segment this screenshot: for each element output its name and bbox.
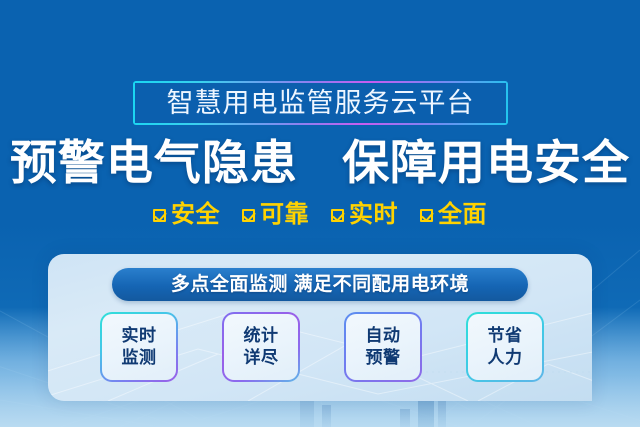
feature-checklist: 安全 可靠 实时 全面 — [0, 203, 640, 227]
building-silhouette — [438, 401, 446, 427]
feature-card-detailed-statistics[interactable]: 统计 详尽 — [222, 312, 300, 382]
feature-card-line1: 统计 — [244, 326, 279, 346]
checkbox-checked-icon — [420, 209, 433, 222]
feature-card-inner: 节省 人力 — [468, 314, 542, 380]
checkbox-checked-icon — [331, 209, 344, 222]
feature-panel: 多点全面监测 满足不同配用电环境 实时 监测 统计 详尽 自动 预警 — [48, 254, 592, 401]
feature-card-inner: 实时 监测 — [102, 314, 176, 380]
feature-card-inner: 统计 详尽 — [224, 314, 298, 380]
feature-card-list: 实时 监测 统计 详尽 自动 预警 节省 人力 — [100, 312, 544, 384]
feature-card-line2: 人力 — [488, 348, 523, 368]
checklist-item-safe: 安全 — [153, 203, 220, 227]
checklist-item-reliable: 可靠 — [242, 203, 309, 227]
panel-banner-text: 多点全面监测 满足不同配用电环境 — [171, 275, 469, 294]
feature-card-realtime-monitoring[interactable]: 实时 监测 — [100, 312, 178, 382]
headline: 预警电气隐患 保障用电安全 — [0, 138, 640, 187]
checklist-label: 全面 — [438, 203, 487, 227]
feature-card-line2: 监测 — [122, 348, 157, 368]
checklist-label: 安全 — [171, 203, 220, 227]
feature-card-line1: 实时 — [122, 326, 157, 346]
panel-banner-pill: 多点全面监测 满足不同配用电环境 — [112, 268, 528, 301]
promo-poster: 智慧用电监管服务云平台 预警电气隐患 保障用电安全 安全 可靠 实时 全面 — [0, 0, 640, 427]
checklist-item-comprehensive: 全面 — [420, 203, 487, 227]
building-silhouette — [322, 405, 331, 427]
checkbox-checked-icon — [242, 209, 255, 222]
checkbox-checked-icon — [153, 209, 166, 222]
building-silhouette — [400, 409, 410, 427]
platform-title-chip-inner: 智慧用电监管服务云平台 — [135, 83, 506, 123]
headline-part2: 保障用电安全 — [342, 136, 630, 189]
feature-card-line1: 自动 — [366, 326, 401, 346]
checklist-label: 可靠 — [260, 203, 309, 227]
checklist-item-realtime: 实时 — [331, 203, 398, 227]
headline-part1: 预警电气隐患 — [10, 136, 298, 189]
feature-card-line2: 预警 — [366, 348, 401, 368]
feature-card-save-manpower[interactable]: 节省 人力 — [466, 312, 544, 382]
platform-title-chip: 智慧用电监管服务云平台 — [133, 81, 508, 125]
checklist-label: 实时 — [349, 203, 398, 227]
feature-card-line2: 详尽 — [244, 348, 279, 368]
feature-card-inner: 自动 预警 — [346, 314, 420, 380]
feature-card-line1: 节省 — [488, 326, 523, 346]
feature-card-auto-alarm[interactable]: 自动 预警 — [344, 312, 422, 382]
platform-title-text: 智慧用电监管服务云平台 — [167, 90, 475, 117]
